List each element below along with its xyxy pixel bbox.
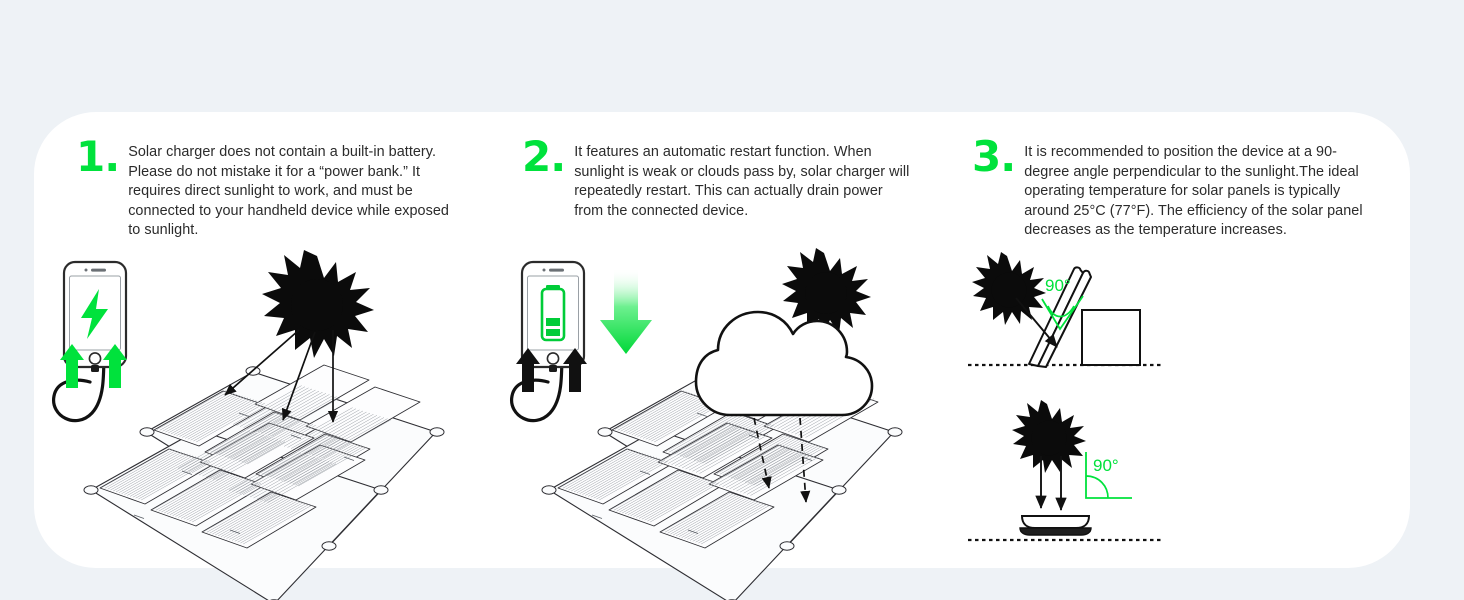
step-1-text-block: 1. Solar charger does not contain a buil…	[76, 140, 456, 241]
step-1: 1. Solar charger does not contain a buil…	[34, 112, 492, 568]
step-3-number: 3.	[972, 140, 1015, 241]
connector-icon	[549, 365, 557, 372]
step-3-illustration: 90°	[950, 242, 1408, 568]
angle-marker-icon: 90°	[1086, 452, 1132, 498]
sun-icon	[972, 252, 1046, 325]
sun-icon	[1012, 400, 1086, 473]
step-2: 2. It features an automatic restart func…	[492, 112, 950, 568]
step-2-paragraph: It features an automatic restart functio…	[574, 140, 910, 221]
step-2-illustration	[492, 250, 950, 568]
step-1-paragraph: Solar charger does not contain a built-i…	[128, 140, 456, 241]
cloud-icon	[696, 312, 872, 415]
sun-icon	[262, 250, 374, 358]
step-3-text-block: 3. It is recommended to position the dev…	[972, 140, 1372, 241]
step-2-text-block: 2. It features an automatic restart func…	[522, 140, 910, 221]
tilted-panel-diagram: 90°	[968, 252, 1162, 367]
angle-label-bottom: 90°	[1093, 456, 1119, 475]
page-root: 1. Solar charger does not contain a buil…	[0, 0, 1464, 600]
support-box-icon	[1082, 310, 1140, 365]
step-1-number: 1.	[76, 140, 119, 241]
step-2-number: 2.	[522, 140, 565, 221]
green-down-arrow-icon	[600, 268, 652, 354]
step-1-illustration	[34, 250, 492, 568]
flat-panel-diagram: 90°	[968, 400, 1162, 540]
solar-panel-icon	[84, 365, 444, 600]
step-3: 3. It is recommended to position the dev…	[950, 112, 1408, 568]
step-3-paragraph: It is recommended to position the device…	[1024, 140, 1372, 241]
connector-icon	[91, 365, 99, 372]
flat-panel-icon	[1020, 516, 1091, 535]
steps-container: 1. Solar charger does not contain a buil…	[34, 112, 1410, 568]
angle-label-top: 90°	[1045, 276, 1071, 295]
